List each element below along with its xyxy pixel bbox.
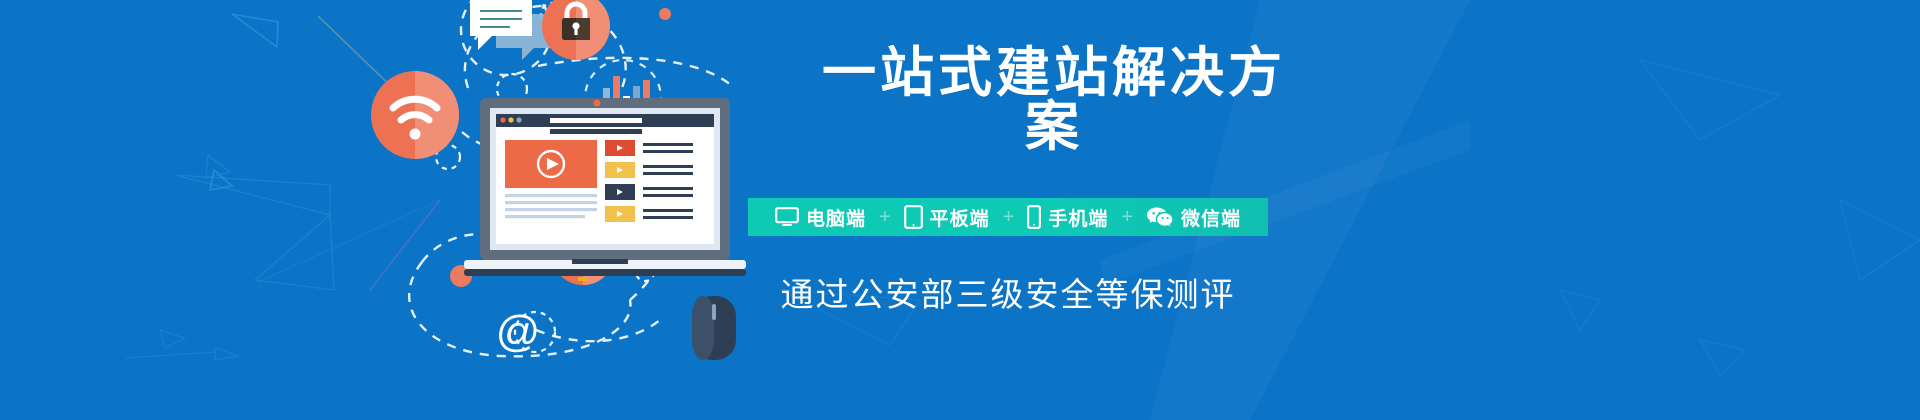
platform-badge-tablet[interactable]: 平板端 bbox=[902, 204, 992, 231]
platform-badge-desktop[interactable]: 电脑端 bbox=[773, 204, 868, 231]
platform-badge-wechat[interactable]: 微信端 bbox=[1144, 204, 1243, 231]
platform-badge-bar: 电脑端 + 平板端 + 手机端 + bbox=[748, 198, 1268, 236]
lock-icon bbox=[536, 0, 616, 66]
banner-copy-column: 一站式建站解决方案 电脑端 + 平板端 + bbox=[748, 46, 1568, 346]
computer-mouse-icon bbox=[692, 296, 736, 360]
badge-separator: + bbox=[992, 207, 1026, 227]
decorative-dot bbox=[659, 8, 671, 20]
promo-banner: $ @ bbox=[0, 0, 1920, 420]
website-builder-illustration: $ @ bbox=[300, 0, 760, 360]
wechat-icon bbox=[1146, 206, 1174, 228]
wifi-icon bbox=[371, 71, 459, 159]
at-sign-icon: @ bbox=[496, 307, 541, 356]
platform-badge-label: 电脑端 bbox=[806, 204, 866, 231]
badge-separator: + bbox=[868, 207, 902, 227]
laptop-screen-content bbox=[496, 114, 714, 244]
video-player-tile bbox=[505, 140, 597, 188]
platform-badge-label: 微信端 bbox=[1181, 204, 1241, 231]
tablet-icon bbox=[904, 205, 923, 229]
smartphone-icon bbox=[1027, 205, 1041, 229]
desktop-monitor-icon bbox=[775, 207, 799, 227]
badge-separator: + bbox=[1110, 207, 1144, 227]
page-title: 一站式建站解决方案 bbox=[794, 46, 1314, 154]
platform-badge-label: 手机端 bbox=[1048, 204, 1108, 231]
banner-subtitle: 通过公安部三级安全等保测评 bbox=[748, 278, 1268, 311]
laptop-device bbox=[464, 98, 746, 276]
platform-badge-mobile[interactable]: 手机端 bbox=[1025, 204, 1110, 231]
svg-text:@: @ bbox=[496, 307, 541, 356]
platform-badge-label: 平板端 bbox=[930, 204, 990, 231]
